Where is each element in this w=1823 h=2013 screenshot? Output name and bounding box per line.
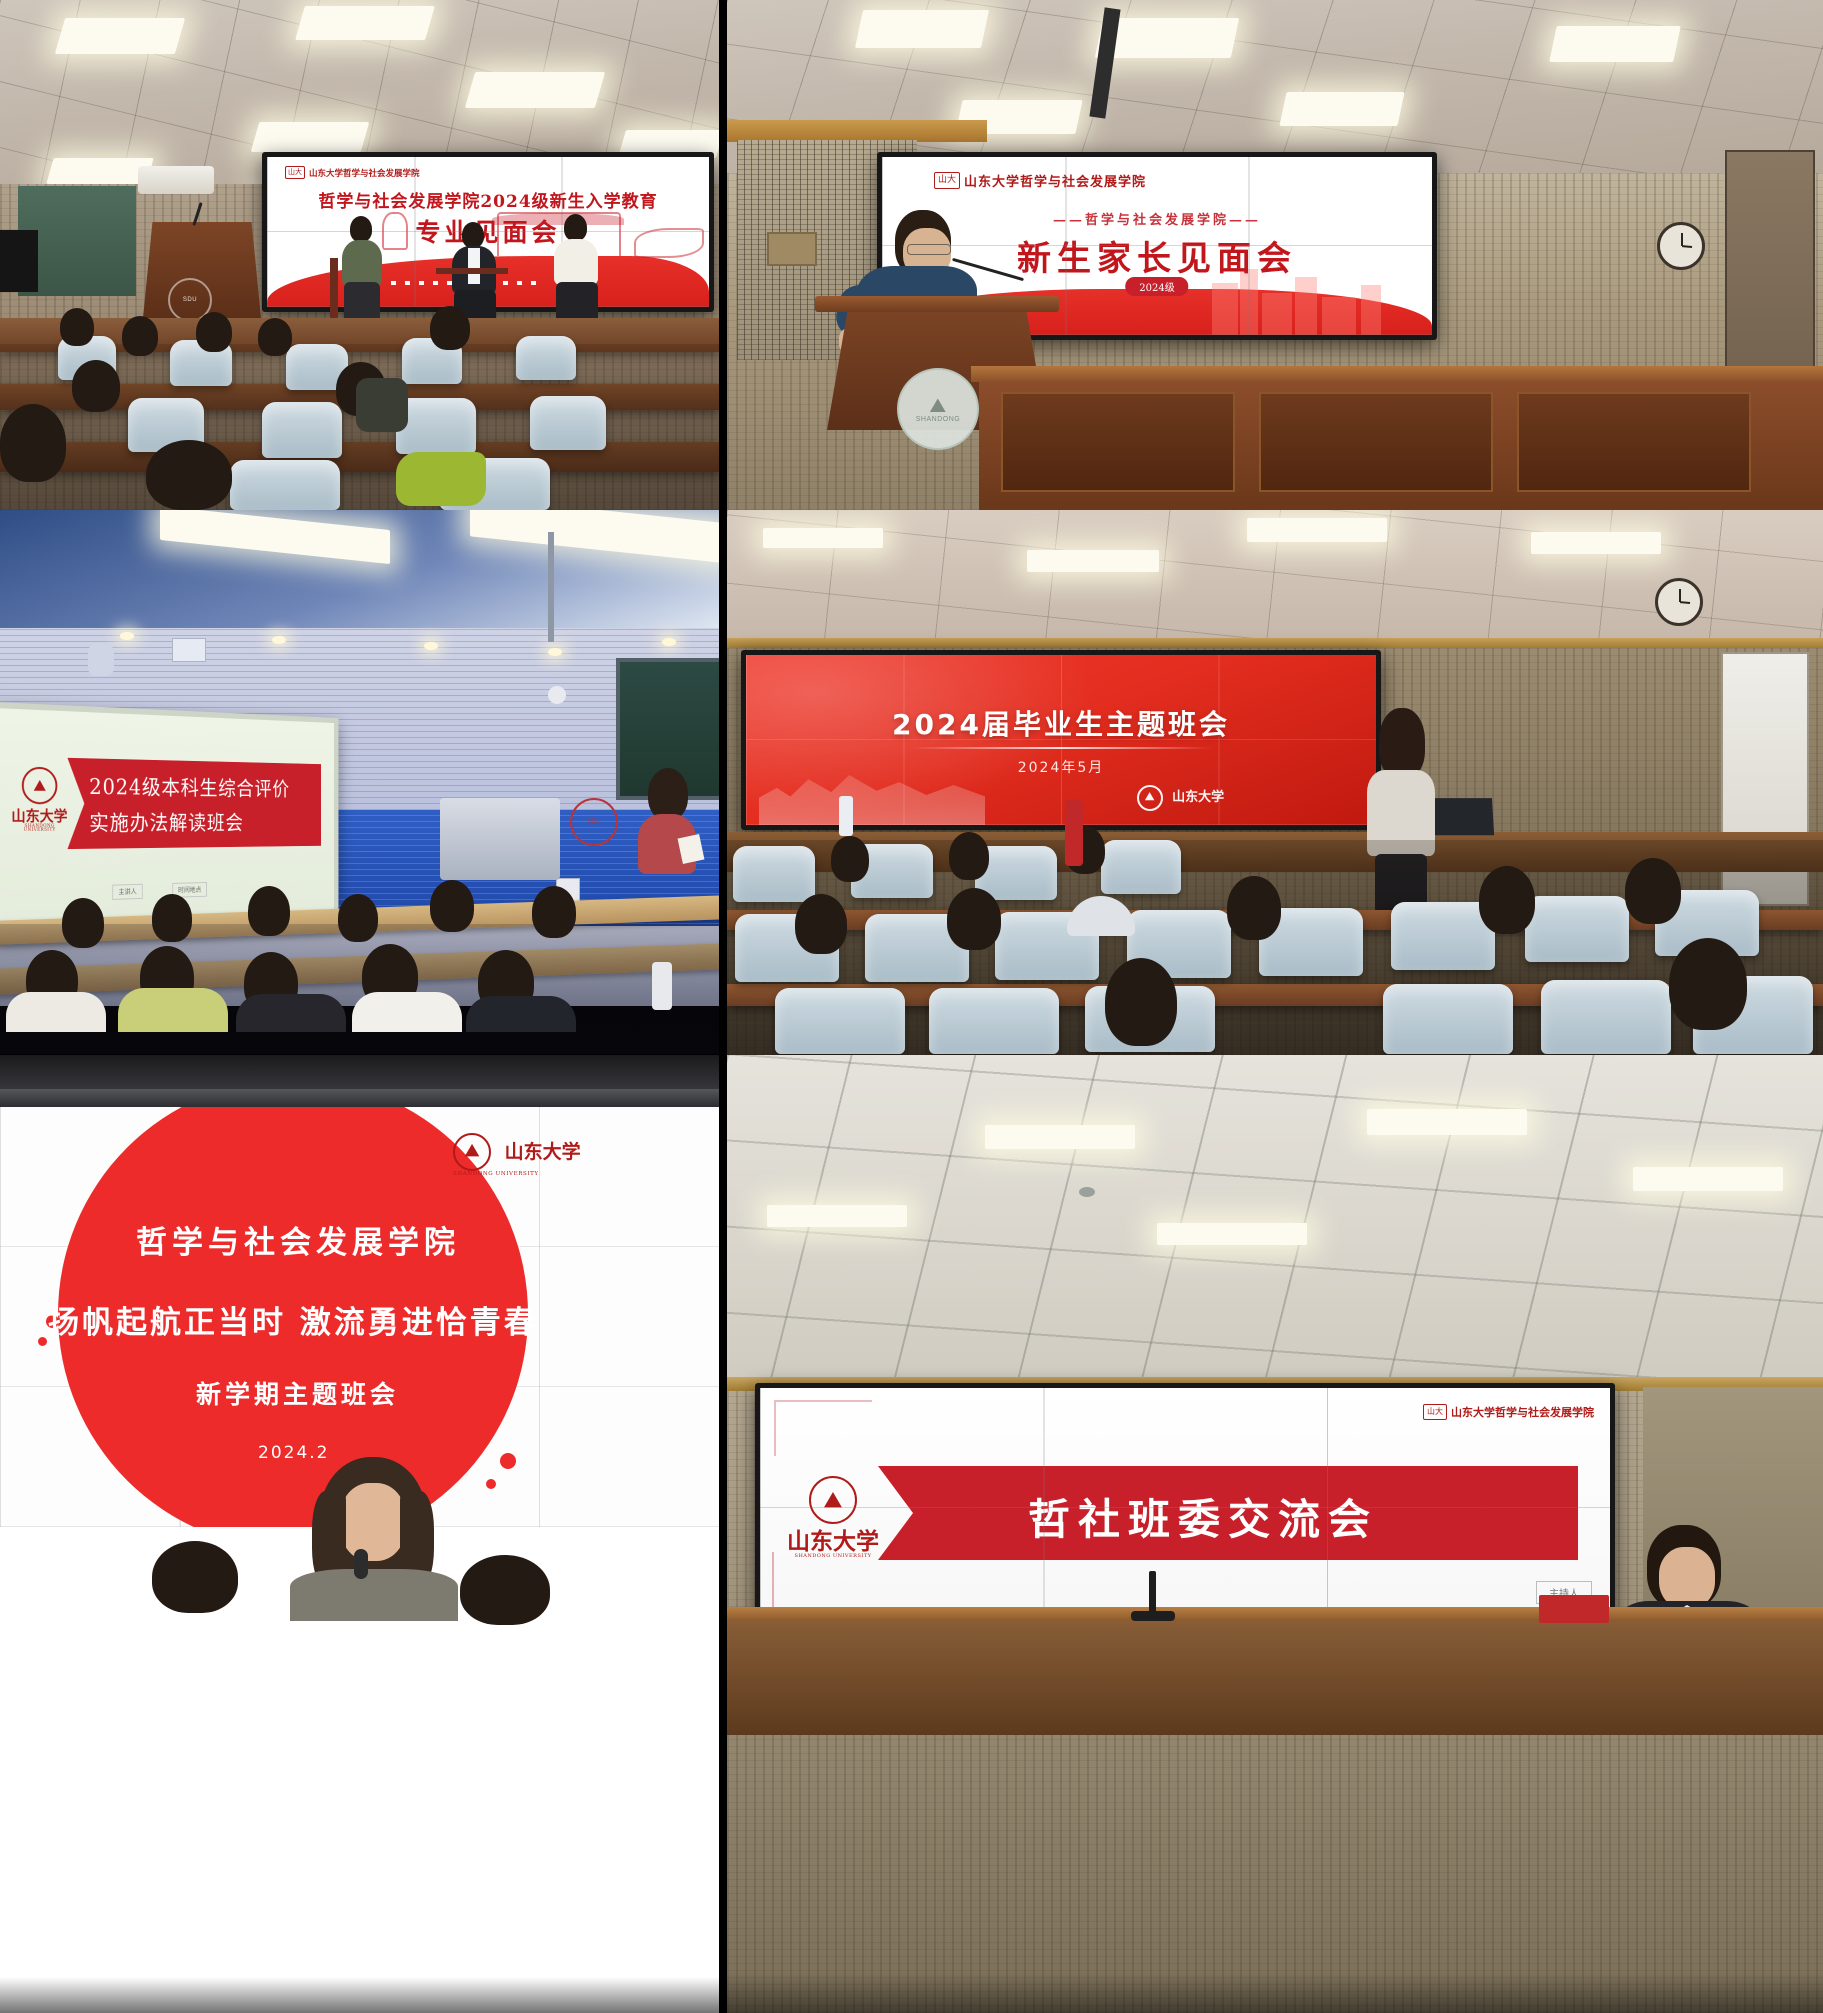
ceiling-light [55,18,185,54]
audience-head [60,308,94,346]
slide-red-banner: 2024级本科生综合评价 实施办法解读班会 [67,758,321,849]
audience-head [430,880,474,932]
ac-unit [138,166,214,194]
ceiling-light [767,1205,907,1227]
college-seal-header: 山大 山东大学哲学与社会发展学院 [1423,1404,1594,1420]
speaker-3 [552,214,602,332]
audience-head [0,404,66,482]
foreground-shadow [0,1977,719,2013]
ceiling [727,510,1823,652]
ceiling-light [465,72,605,108]
led-video-wall: 哲社班委交流会 ⛰ 山东大学 SHANDONG UNIVERSITY 山大 山东… [755,1383,1615,1633]
red-thermos [1065,800,1083,866]
slide-dot [486,1479,496,1489]
ceiling-light [1027,550,1159,572]
seal-label: 山东大学哲学与社会发展学院 [1451,1404,1594,1420]
audience-chair [1525,896,1629,962]
wood-trim [727,120,987,142]
sdu-emblem-icon: ⛰ [1137,785,1163,811]
slide-title-line2: 扬帆起航正当时 激流勇进恰青春 [48,1297,538,1342]
audience-head [1479,866,1535,934]
slide-corner-deco [774,1400,872,1456]
audience-head [532,886,576,938]
stage-chair [436,268,508,274]
slide-screen: 哲社班委交流会 ⛰ 山东大学 SHANDONG UNIVERSITY 山大 山东… [760,1388,1610,1628]
slide-badge: 2024级 [1125,277,1188,296]
audience-chair [929,988,1059,1054]
microphone-icon [354,1549,368,1579]
audience-torso [466,996,576,1032]
audience-head [947,888,1001,950]
audience-head [196,312,232,352]
ceiling-light [1157,1223,1307,1245]
audience-head [1669,938,1747,1030]
conference-table [727,1615,1823,1735]
podium-top [815,296,1059,312]
audience-head [949,832,989,880]
ceiling-light [855,10,989,48]
audience-head [338,894,378,942]
ceiling-light [763,528,883,548]
speaker-torso [290,1569,458,1621]
audience-chair [1101,840,1181,894]
led-video-wall: 2024届毕业生主题班会 2024年5月 ⛰ 山东大学 [741,650,1381,830]
audience-head [146,440,232,510]
foreground-shadow [727,1973,1823,2013]
ceiling-light [1367,1109,1527,1135]
slide-title-line1: 2024级本科生综合评价 [89,770,290,802]
seal-label: 山东大学哲学与社会发展学院 [964,171,1146,190]
wall-monitor [0,230,38,292]
sdu-logo: ⛰ 山东大学 SHANDONG UNIVERSITY [8,766,72,834]
sdu-logo-text: 山东大学 [8,808,72,824]
ceiling-spotlight [662,638,676,646]
audience-chair [733,846,815,902]
lectern [440,798,560,880]
audience-chair [516,336,576,380]
podium-seal-text: SHANDONG [916,416,960,423]
audience-head [258,318,292,356]
sdu-emblem-icon: ⛰ [453,1133,491,1171]
audience-chair [530,396,606,450]
panel-graduates-theme-meeting: 2024届毕业生主题班会 2024年5月 ⛰ 山东大学 [719,510,1823,1055]
figure-icon [382,212,408,250]
skyline-building [1361,285,1381,335]
audience-chair [1383,984,1513,1054]
slide-dot [38,1337,47,1346]
projection-frame [0,1089,719,1107]
table-top-edge [971,366,1823,382]
sdu-logo-left: ⛰ 山东大学 SHANDONG UNIVERSITY [782,1476,884,1560]
skyline-building [1262,293,1292,335]
table-top-edge [727,1607,1823,1621]
panel-freshman-major-meeting: 山大 山东大学哲学与社会发展学院 哲学与社会发展学院2024级新生入学教育 专业… [0,0,719,510]
lectern-seal: SDU [570,798,618,846]
table-panel [1517,392,1751,492]
ceiling-light [1633,1167,1783,1191]
wall-clock [1657,222,1705,270]
speaker-torso [342,240,382,286]
ceiling-spotlight [548,648,562,656]
smoke-detector-icon [1079,1187,1095,1197]
panel-comprehensive-evaluation-meeting: ⛰ 山东大学 SHANDONG UNIVERSITY 2024级本科生综合评价 … [0,510,719,1055]
security-camera-icon [548,686,566,704]
college-seal-header: 山大 山东大学哲学与社会发展学院 [934,171,1146,190]
wall-speaker-icon [88,644,114,676]
speaker-head [350,216,372,242]
water-bottle [652,962,672,1010]
audience-head [460,1555,550,1625]
seal-label: 山东大学哲学与社会发展学院 [309,167,420,179]
sdu-logo-sub: SHANDONG UNIVERSITY [8,824,72,834]
audience-torso [236,994,346,1032]
seal-stamp-icon: 山大 [1423,1404,1447,1420]
audience-chair [775,988,905,1054]
sdu-logo-text: 山东大学 [1172,790,1224,805]
speaker-head [462,222,484,248]
presenter-head [1379,708,1425,778]
slide-divider [910,747,1212,749]
ceiling-light [1531,532,1661,554]
college-seal-header: 山大 山东大学哲学与社会发展学院 [285,166,420,179]
audience-head [430,306,470,350]
podium-seal: ⛰ SHANDONG [897,368,979,450]
slide-dot [500,1453,516,1469]
sdu-logo: ⛰ 山东大学 SHANDONG UNIVERSITY [453,1133,593,1177]
presenter-head [648,768,688,820]
ceiling-spotlight [120,632,134,640]
panel-new-semester-meeting: ⛰ 山东大学 SHANDONG UNIVERSITY 哲学与社会发展学院 扬帆起… [0,1055,719,2013]
microphone-base [1131,1611,1175,1621]
slide-title-line1: 哲学与社会发展学院 [136,1217,460,1262]
table-panel [1259,392,1493,492]
slide-badge-text: 2024级 [1139,283,1174,294]
audience-head [152,894,192,942]
skyline-building [1322,297,1356,335]
sdu-mountain-icon: ⛰ [929,396,946,416]
sdu-logo-text: 山东大学 [782,1529,884,1554]
wall-clock [1655,578,1703,626]
audience-torso [352,992,462,1032]
slide-title: 2024届毕业生主题班会 [892,703,1230,743]
slide-date: 2024年5月 [1018,757,1105,777]
speaker-1 [340,216,384,324]
presenter-notes [678,834,705,864]
sdu-emblem-icon: ⛰ [809,1476,857,1524]
audience-head [1625,858,1681,924]
speaker-with-microphone [284,1457,464,1617]
sdu-logo-sub: SHANDONG UNIVERSITY [453,1171,593,1177]
audience-head [62,898,104,948]
host-face [1659,1547,1715,1609]
bench-shadow [0,924,719,1054]
ceiling-light [1279,92,1404,126]
speaker-head [564,214,587,241]
audience-chair [262,402,342,458]
audience-head [248,886,290,936]
panel-freshman-parents-meeting: 山大 山东大学哲学与社会发展学院 ——哲学与社会发展学院—— 新生家长见面会 2… [719,0,1823,510]
ceiling-light [295,6,435,40]
slide-title: 哲社班委交流会 [1028,1486,1378,1547]
audience-head [795,894,847,954]
ceiling [727,1055,1823,1400]
ceiling-light [985,1125,1135,1149]
backpack [356,378,408,432]
table-panel [1001,392,1235,492]
audience-head [831,836,869,882]
presenter [632,768,702,898]
slide-title-line2: 实施办法解读班会 [89,806,243,837]
sdu-logo: ⛰ 山东大学 [1137,785,1225,811]
ceiling-spotlight [272,636,286,644]
wall-socket [767,232,817,266]
hanging-rod [548,532,554,642]
slide-title-line3: 新学期主题班会 [196,1375,399,1411]
audience-head [72,360,120,412]
ceiling-light [251,122,370,152]
audience-head [1227,876,1281,940]
wall-control [172,638,206,662]
audience-torso [118,988,228,1032]
audience-torso [6,992,106,1032]
speaker-face [340,1483,406,1561]
slide-title-line1: 哲学与社会发展学院2024级新生入学教育 [267,187,709,212]
speaker-glasses-icon [907,244,951,255]
top-wall-strip [0,1055,719,1093]
panel-class-committee-exchange: 哲社班委交流会 ⛰ 山东大学 SHANDONG UNIVERSITY 山大 山东… [719,1055,1823,2013]
sdu-logo-text: 山东大学 [505,1141,581,1163]
skyline-building [1295,277,1317,335]
audience-chair [396,398,476,454]
ceiling-light [1549,26,1681,62]
wood-trim [727,638,1823,648]
slide-footer-left: 主讲人 [112,884,142,900]
speaker-shirt [468,248,480,284]
audience-chair [1541,980,1671,1054]
ceiling-light [1247,518,1387,542]
sdu-emblem-icon: ⛰ [22,767,58,805]
photo-collage: 山大 山东大学哲学与社会发展学院 哲学与社会发展学院2024级新生入学教育 专业… [0,0,1823,2013]
skyline-building [1212,283,1238,335]
audience-head [152,1541,238,1613]
speaker-torso [554,239,598,285]
seal-stamp-icon: 山大 [934,172,960,189]
audience-head [1105,958,1177,1046]
green-bag [396,452,486,506]
water-bottle [839,796,853,836]
audience-chair [230,460,340,510]
seal-stamp-icon: 山大 [285,166,305,179]
ribbon-icon [634,228,704,258]
audience-head [122,316,158,356]
name-plate [1539,1595,1609,1623]
ceiling-spotlight [424,642,438,650]
